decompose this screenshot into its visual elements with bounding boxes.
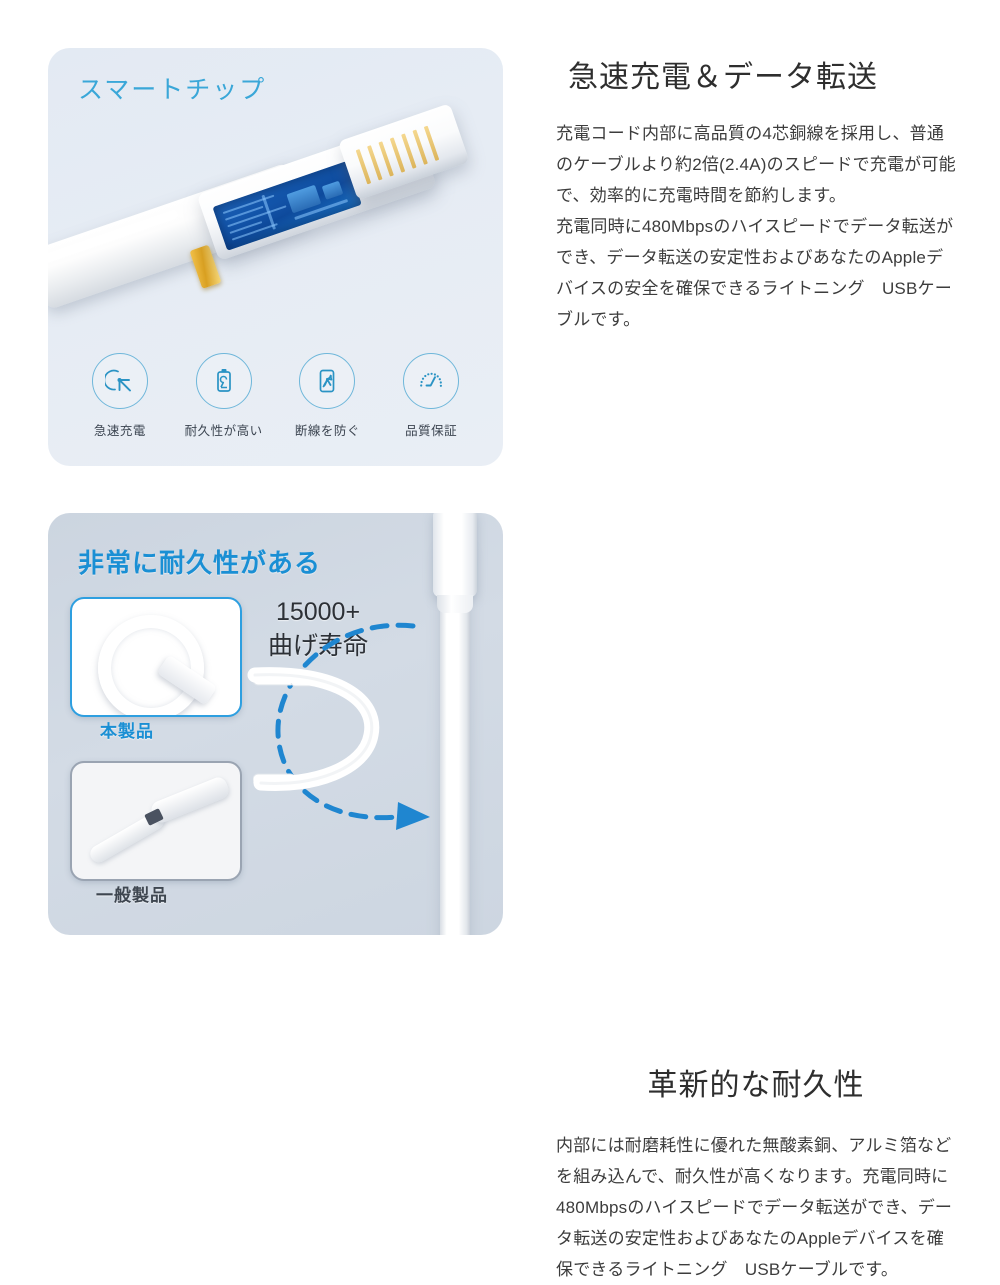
smart-chip-heading: 急速充電＆データ転送 (556, 52, 956, 96)
vertical-cable-plug (433, 513, 477, 597)
cutaway-connector-photo (48, 98, 503, 353)
gauge-icon (403, 353, 459, 409)
smart-chip-paragraph-1: 充電コード内部に高品質の4芯銅線を採用し、普通のケーブルより約2倍(2.4A)の… (556, 118, 956, 211)
smart-chip-panel: スマートチップ (48, 48, 503, 466)
durability-paragraph-1: 内部には耐磨耗性に優れた無酸素銅、アルミ箔などを組み込んで、耐久性が高くなります… (556, 1130, 956, 1285)
feature-item-quality: 品質保証 (384, 353, 479, 439)
feature-item-fast-charge: 急速充電 (72, 353, 167, 439)
phone-arrow-icon (299, 353, 355, 409)
section-durability: 非常に耐久性がある 本製品 一般製品 15000+ 曲げ寿命 (0, 500, 1000, 1000)
durability-text-column: 革新的な耐久性 内部には耐磨耗性に優れた無酸素銅、アルミ箔などを組み込んで、耐久… (556, 1060, 956, 1285)
feature-label-no-break: 断線を防ぐ (295, 420, 360, 439)
smart-chip-text-column: 急速充電＆データ転送 充電コード内部に高品質の4芯銅線を採用し、普通のケーブルよ… (556, 52, 956, 335)
feature-label-fast-charge: 急速充電 (94, 420, 146, 439)
section-smart-chip: スマートチップ (0, 0, 1000, 500)
product-feature-page: スマートチップ (0, 0, 1000, 1000)
feature-label-durability: 耐久性が高い (185, 420, 263, 439)
inset-our-product (70, 597, 242, 717)
durability-panel: 非常に耐久性がある 本製品 一般製品 15000+ 曲げ寿命 (48, 513, 503, 935)
vertical-cable-collar (437, 595, 473, 613)
inset-generic-product (70, 761, 242, 881)
fast-charge-cursor-icon (92, 353, 148, 409)
caption-generic-product: 一般製品 (96, 881, 168, 906)
feature-icon-row: 急速充電 耐久性が高い (68, 353, 483, 439)
durability-panel-title: 非常に耐久性がある (78, 543, 321, 580)
coiled-cable-illustration (98, 615, 204, 717)
flexing-cable-body (243, 653, 423, 813)
caption-our-product: 本製品 (100, 717, 154, 742)
feature-label-quality: 品質保証 (405, 420, 457, 439)
feature-item-no-break: 断線を防ぐ (280, 353, 375, 439)
feature-item-durability: 耐久性が高い (176, 353, 271, 439)
smart-chip-paragraph-2: 充電同時に480Mbpsのハイスピードでデータ転送ができ、データ転送の安定性およ… (556, 211, 956, 335)
durability-heading: 革新的な耐久性 (556, 1060, 956, 1104)
battery-wrench-icon (196, 353, 252, 409)
